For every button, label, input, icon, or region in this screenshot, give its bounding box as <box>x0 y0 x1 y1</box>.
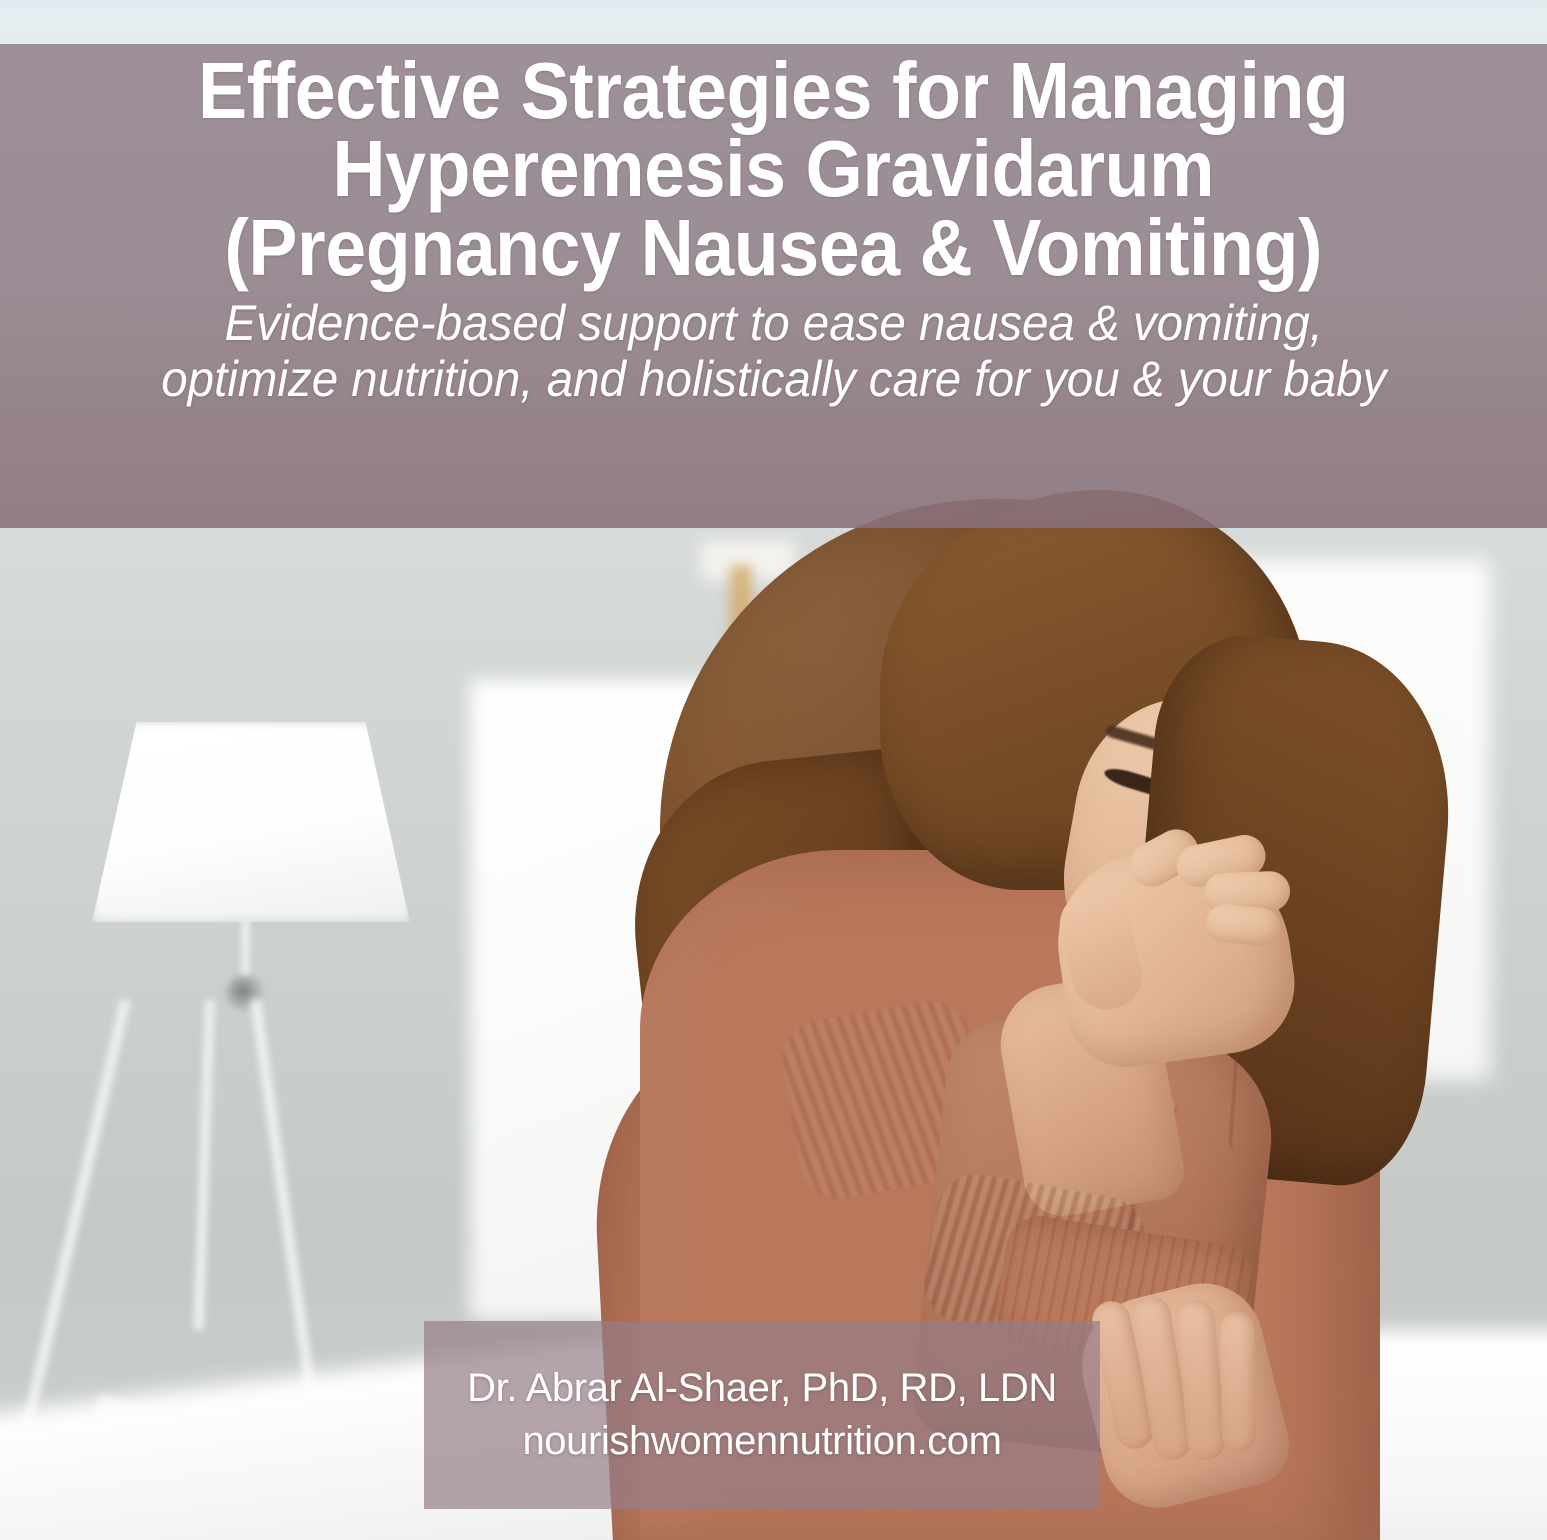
page-subtitle: Evidence-based support to ease nausea & … <box>148 295 1400 407</box>
finger <box>1220 1312 1256 1453</box>
header-band: Effective Strategies for Managing Hypere… <box>0 44 1547 528</box>
author-name: Dr. Abrar Al-Shaer, PhD, RD, LDN <box>467 1362 1057 1415</box>
website-url[interactable]: nourishwomennutrition.com <box>522 1415 1001 1468</box>
poster-canvas: Effective Strategies for Managing Hypere… <box>0 0 1547 1540</box>
page-title: Effective Strategies for Managing Hypere… <box>176 52 1371 287</box>
attribution-box: Dr. Abrar Al-Shaer, PhD, RD, LDN nourish… <box>424 1321 1100 1509</box>
